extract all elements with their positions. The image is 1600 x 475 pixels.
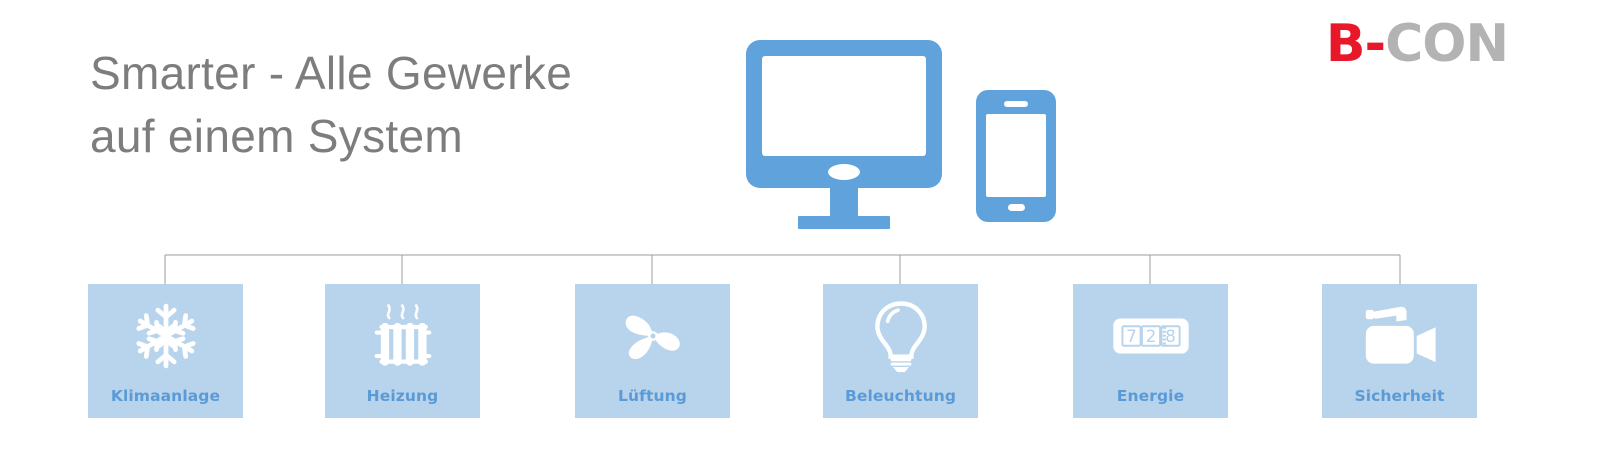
tile-label-energie: Energie <box>1073 387 1228 405</box>
tile-klimaanlage[interactable]: Klimaanlage <box>88 284 243 418</box>
smartphone-icon <box>976 90 1056 222</box>
logo-word-con: CON <box>1385 14 1508 74</box>
tile-energie[interactable]: 7 2 8 Energie <box>1073 284 1228 418</box>
brand-logo: B-CON <box>1326 18 1508 70</box>
tile-label-sicherheit: Sicherheit <box>1322 387 1477 405</box>
radiator-icon <box>364 300 442 372</box>
tile-label-beleuchtung: Beleuchtung <box>823 387 978 405</box>
tile-beleuchtung[interactable]: Beleuchtung <box>823 284 978 418</box>
logo-letter-b: B <box>1326 14 1365 74</box>
logo-dash: - <box>1365 14 1386 74</box>
energy-meter-icon: 7 2 8 <box>1112 300 1190 372</box>
tile-label-heizung: Heizung <box>325 387 480 405</box>
lightbulb-icon <box>862 300 940 372</box>
snowflake-icon <box>127 300 205 372</box>
devices-illustration <box>740 38 1060 233</box>
tile-heizung[interactable]: Heizung <box>325 284 480 418</box>
tile-label-lueftung: Lüftung <box>575 387 730 405</box>
tile-lueftung[interactable]: Lüftung <box>575 284 730 418</box>
fan-icon <box>614 300 692 372</box>
tile-sicherheit[interactable]: Sicherheit <box>1322 284 1477 418</box>
svg-text:8: 8 <box>1165 326 1176 346</box>
tile-label-klimaanlage: Klimaanlage <box>88 387 243 405</box>
page-headline: Smarter - Alle Gewerke auf einem System <box>90 42 690 169</box>
energy-digit-3-rolling: 8 <box>1162 326 1175 346</box>
video-camera-icon <box>1361 300 1439 372</box>
energy-digit-1: 7 <box>1126 326 1137 346</box>
systems-tile-row: Klimaanlage <box>0 284 1600 420</box>
desktop-monitor-icon <box>746 40 942 229</box>
connector-tree <box>0 240 1600 290</box>
energy-digit-2: 2 <box>1145 326 1156 346</box>
